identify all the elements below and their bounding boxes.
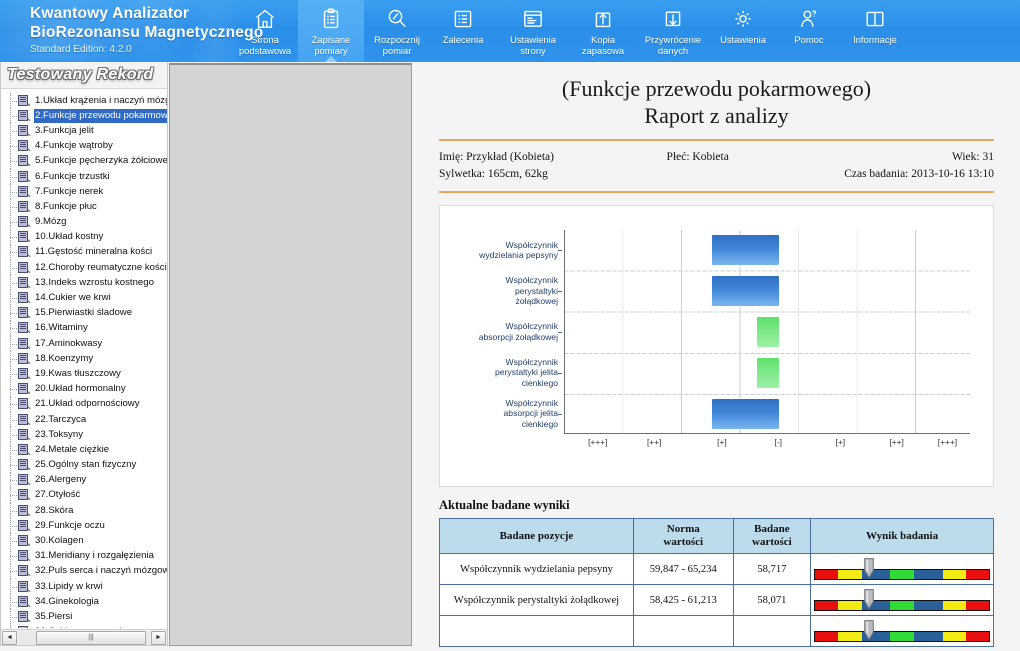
tree-elbow-connector [4, 290, 18, 305]
cell-item-name: Współczynnik perystaltyki żołądkowej [440, 585, 634, 616]
sidebar-item-34[interactable]: 34.Ginekologia [4, 594, 167, 609]
sidebar-item-11[interactable]: 11.Gęstość mineralna kości [4, 245, 167, 260]
cell-measured-value: 58,717 [733, 554, 811, 585]
scroll-right-button[interactable]: ► [151, 631, 166, 645]
brand-line-2: BioRezonansu Magnetycznego [30, 23, 263, 42]
toolbar-label: Zapisane pomiary [312, 35, 351, 56]
gauge-segment-5 [914, 632, 943, 641]
document-icon [18, 307, 31, 319]
gauge-segment-7 [966, 601, 989, 610]
sidebar-item-label: 6.Funkcje trzustki [34, 170, 112, 184]
tree-elbow-connector [4, 594, 18, 609]
chart-category-label-4: Współczynnik perystaltyki jelita cienkie… [440, 357, 558, 389]
report-title-line-1: (Funkcje przewodu pokarmowego) [439, 75, 994, 102]
column-header-value: Badane wartości [733, 519, 811, 554]
tree-panel-title: Testowany Rekord [1, 62, 167, 89]
document-icon [18, 565, 31, 577]
results-heading: Aktualne badane wyniki [439, 498, 994, 513]
scroll-left-button[interactable]: ◄ [2, 631, 17, 645]
table-header-row: Badane pozycje Norma wartości Badane war… [440, 519, 994, 554]
document-icon [18, 414, 31, 426]
chart-bar-5 [712, 399, 780, 429]
document-icon [18, 322, 31, 334]
gauge-segments [814, 569, 990, 580]
brand-edition: Standard Edition: 4.2.0 [30, 43, 263, 57]
scrollbar-track[interactable]: ||| [18, 631, 150, 645]
magnifier-icon [385, 6, 409, 32]
document-icon [18, 140, 31, 152]
document-icon [18, 459, 31, 471]
document-icon [18, 550, 31, 562]
cell-item-name [440, 616, 634, 647]
tree-elbow-connector [4, 215, 18, 230]
tree-elbow-connector [4, 154, 18, 169]
tree-elbow-connector [4, 199, 18, 214]
chart-plot-area [564, 230, 970, 434]
chart-bar-1 [712, 235, 780, 265]
sidebar-item-label: 26.Alergeny [34, 473, 88, 487]
sidebar-item-13[interactable]: 13.Indeks wzrostu kostnego [4, 275, 167, 290]
chart-category-label-2: Współczynnik perystaltyki żołądkowej [440, 275, 558, 307]
document-icon [18, 474, 31, 486]
gauge-segment-1 [815, 601, 838, 610]
meta-name: Imię: Przykład (Kobieta) [439, 149, 667, 166]
tree-elbow-connector [4, 609, 18, 624]
meta-age: Wiek: 31 [811, 149, 994, 166]
document-icon [18, 277, 31, 289]
sidebar-item-15[interactable]: 15.Pierwiastki śladowe [4, 306, 167, 321]
meta-figure: Sylwetka: 165cm, 62kg [439, 166, 667, 183]
middle-blank-panel [169, 63, 412, 646]
results-table: Badane pozycje Norma wartości Badane war… [439, 518, 994, 647]
sidebar-item-7[interactable]: 7.Funkcje nerek [4, 184, 167, 199]
tree-elbow-connector [4, 473, 18, 488]
document-icon [18, 246, 31, 258]
document-icon [18, 520, 31, 532]
sidebar-item-1[interactable]: 1.Układ krążenia i naczyń mózgowych [4, 93, 167, 108]
sidebar-item-label: 35.Piersi [34, 610, 74, 624]
tree-elbow-connector [4, 260, 18, 275]
tree-elbow-connector [4, 503, 18, 518]
gauge-segment-4 [890, 632, 913, 641]
sidebar-item-label: 18.Koenzymy [34, 352, 95, 366]
tree-elbow-connector [4, 625, 18, 628]
gauge-segment-2 [838, 601, 861, 610]
document-icon [18, 125, 31, 137]
cell-result-gauge [811, 554, 994, 585]
toolbar-button-strona-podstawowa[interactable]: Strona podstawowa [232, 0, 298, 62]
tree-elbow-connector [4, 306, 18, 321]
sidebar-item-label: 17.Aminokwasy [34, 337, 104, 351]
tree-elbow-connector [4, 427, 18, 442]
document-icon [18, 398, 31, 410]
toolbar-button-zapisane-pomiary[interactable]: Zapisane pomiary [298, 0, 364, 62]
sidebar-item-label: 13.Indeks wzrostu kostnego [34, 276, 156, 290]
document-icon [18, 626, 31, 628]
document-icon [18, 155, 31, 167]
document-icon [18, 611, 31, 623]
cell-norm-range [633, 616, 733, 647]
sidebar-item-12[interactable]: 12.Choroby reumatyczne kości [4, 260, 167, 275]
tree-elbow-connector [4, 366, 18, 381]
divider-top [439, 139, 994, 141]
tree-list: 1.Układ krążenia i naczyń mózgowych2.Fun… [1, 90, 167, 628]
gauge-segments [814, 600, 990, 611]
column-header-result: Wynik badania [811, 519, 994, 554]
tree-elbow-connector [4, 230, 18, 245]
sidebar-item-28[interactable]: 28.Skóra [4, 503, 167, 518]
sidebar-item-16[interactable]: 16.Witaminy [4, 321, 167, 336]
tree-elbow-connector [4, 351, 18, 366]
chart-category-label-1: Współczynnik wydzielania pepsyny [440, 240, 558, 261]
sidebar-item-label: 30.Kolagen [34, 534, 86, 548]
chart-x-tick-4: [-] [775, 437, 782, 447]
tree-elbow-connector [4, 336, 18, 351]
sidebar-item-label: 22.Tarczyca [34, 413, 88, 427]
result-gauge [814, 558, 990, 580]
gauge-segment-7 [966, 570, 989, 579]
clipboard-icon [319, 6, 343, 32]
gauge-segment-1 [815, 570, 838, 579]
chart-bar-3 [757, 317, 779, 347]
sidebar-item-20[interactable]: 20.Układ hormonalny [4, 382, 167, 397]
document-icon [18, 444, 31, 456]
document-icon [18, 581, 31, 593]
sidebar-item-2[interactable]: 2.Funkcje przewodu pokarmowego [4, 108, 167, 123]
scrollbar-thumb[interactable]: ||| [36, 631, 146, 645]
toolbar-label: Przywrócenie danych [645, 35, 701, 56]
gauge-needle-icon [863, 620, 874, 642]
sidebar-item-19[interactable]: 19.Kwas tłuszczowy [4, 366, 167, 381]
table-row[interactable] [440, 616, 994, 647]
cell-norm-range: 59,847 - 65,234 [633, 554, 733, 585]
sidebar-item-label: 21.Układ odpornościowy [34, 397, 142, 411]
gauge-needle-icon [863, 558, 874, 580]
sidebar-item-29[interactable]: 29.Funkcje oczu [4, 518, 167, 533]
document-icon [18, 186, 31, 198]
toolbar-button-zalecenia[interactable]: Zalecenia [430, 0, 496, 62]
tree-elbow-connector [4, 139, 18, 154]
tree-elbow-connector [4, 579, 18, 594]
tree-elbow-connector [4, 442, 18, 457]
cell-measured-value: 58,071 [733, 585, 811, 616]
tree-elbow-connector [4, 382, 18, 397]
sidebar-item-label: 28.Skóra [34, 504, 75, 518]
sidebar-item-label: 9.Mózg [34, 215, 68, 229]
chart-category-labels: Współczynnik wydzielania pepsynyWspółczy… [440, 230, 560, 434]
cell-item-name: Współczynnik wydzielania pepsyny [440, 554, 634, 585]
sidebar-item-label: 10.Układ kostny [34, 230, 105, 244]
sidebar-item-label: 1.Układ krążenia i naczyń mózgowych [34, 94, 167, 108]
sidebar-item-label: 32.Puls serca i naczyń mózgowych [34, 564, 167, 578]
tree-scroll-area[interactable]: 1.Układ krążenia i naczyń mózgowych2.Fun… [1, 90, 167, 628]
list-icon [451, 6, 475, 32]
document-icon [18, 110, 31, 122]
tree-elbow-connector [4, 518, 18, 533]
gauge-needle-icon [863, 589, 874, 611]
sidebar-item-27[interactable]: 27.Otyłość [4, 488, 167, 503]
document-icon [18, 383, 31, 395]
tree-elbow-connector [4, 184, 18, 199]
sidebar-item-label: 23.Toksyny [34, 428, 85, 442]
gauge-segment-1 [815, 632, 838, 641]
top-toolbar: Kwantowy Analizator BioRezonansu Magnety… [0, 0, 1020, 62]
sidebar-item-18[interactable]: 18.Koenzymy [4, 351, 167, 366]
toolbar-button-informacje[interactable]: Informacje [842, 0, 908, 62]
result-gauge [814, 589, 990, 611]
sidebar-item-4[interactable]: 4.Funkcje wątroby [4, 139, 167, 154]
sidebar-item-label: 8.Funkcje płuc [34, 200, 99, 214]
tree-elbow-connector [4, 533, 18, 548]
chart-x-tick-7: [+++] [938, 437, 957, 447]
tree-elbow-connector [4, 412, 18, 427]
cell-result-gauge [811, 585, 994, 616]
brand-line-1: Kwantowy Analizator [30, 4, 263, 23]
toolbar-label: Ustawienia strony [510, 35, 556, 56]
patient-meta: Imię: Przykład (Kobieta) Płeć: Kobieta W… [439, 149, 994, 183]
report-title-line-2: Raport z analizy [439, 102, 994, 129]
toolbar-label: Rozpocznij pomiar [374, 35, 420, 56]
sidebar-item-17[interactable]: 17.Aminokwasy [4, 336, 167, 351]
chart-x-tick-5: [+] [836, 437, 846, 447]
tree-elbow-connector [4, 93, 18, 108]
divider-bottom [439, 191, 994, 193]
sidebar-item-label: 16.Witaminy [34, 321, 90, 335]
application-window: Kwantowy Analizator BioRezonansu Magnety… [0, 0, 1020, 651]
analysis-chart: Współczynnik wydzielania pepsynyWspółczy… [439, 205, 994, 487]
toolbar-label: Pomoc [794, 35, 823, 46]
gear-icon [731, 6, 755, 32]
sidebar-item-24[interactable]: 24.Metale ciężkie [4, 442, 167, 457]
chart-bar-2 [712, 276, 780, 306]
document-icon [18, 262, 31, 274]
gauge-segment-6 [943, 632, 966, 641]
toolbar-label: Informacje [853, 35, 897, 46]
sidebar-item-22[interactable]: 22.Tarczyca [4, 412, 167, 427]
toolbar-button-ustawienia[interactable]: Ustawienia [710, 0, 776, 62]
result-gauge [814, 620, 990, 642]
sidebar-item-label: 20.Układ hormonalny [34, 382, 128, 396]
document-icon [18, 95, 31, 107]
sidebar-item-label: 33.Lipidy w krwi [34, 580, 105, 594]
tree-elbow-connector [4, 458, 18, 473]
toolbar-label: Ustawienia [720, 35, 766, 46]
sidebar-item-26[interactable]: 26.Alergeny [4, 473, 167, 488]
document-icon [18, 429, 31, 441]
sidebar-item-label: 2.Funkcje przewodu pokarmowego [34, 109, 167, 123]
sidebar-item-label: 4.Funkcje wątroby [34, 139, 115, 153]
tree-panel-title-text: Testowany Rekord [7, 66, 153, 84]
record-tree-panel: Testowany Rekord 1.Układ krążenia i nacz… [0, 62, 168, 646]
tree-elbow-connector [4, 169, 18, 184]
gauge-segment-5 [914, 570, 943, 579]
gauge-segment-7 [966, 632, 989, 641]
tree-elbow-connector [4, 245, 18, 260]
sidebar-item-21[interactable]: 21.Układ odpornościowy [4, 397, 167, 412]
sidebar-item-33[interactable]: 33.Lipidy w krwi [4, 579, 167, 594]
toolbar-label: Strona podstawowa [239, 35, 291, 56]
gauge-segment-4 [890, 570, 913, 579]
document-icon [18, 505, 31, 517]
report-panel: (Funkcje przewodu pokarmowego) Raport z … [413, 63, 1020, 651]
cell-measured-value [733, 616, 811, 647]
sidebar-item-label: 34.Ginekologia [34, 595, 101, 609]
sidebar-item-3[interactable]: 3.Funkcja jelit [4, 123, 167, 138]
tree-elbow-connector [4, 397, 18, 412]
toolbar-button-przywrocenie-danych[interactable]: Przywrócenie danych [636, 0, 710, 62]
main-content: Testowany Rekord 1.Układ krążenia i nacz… [0, 62, 1020, 651]
gauge-segment-2 [838, 632, 861, 641]
toolbar-button-rozpocznij-pomiar[interactable]: Rozpocznij pomiar [364, 0, 430, 62]
sidebar-item-30[interactable]: 30.Kolagen [4, 533, 167, 548]
document-icon [18, 201, 31, 213]
tree-horizontal-scrollbar[interactable]: ◄ ||| ► [1, 629, 167, 645]
gauge-segment-6 [943, 570, 966, 579]
toolbar-button-kopia-zapasowa[interactable]: Kopia zapasowa [570, 0, 636, 62]
chart-category-label-5: Współczynnik absorpcji jelita cienkiego [440, 398, 558, 430]
download-icon [661, 6, 685, 32]
upload-icon [591, 6, 615, 32]
chart-x-tick-6: [++] [889, 437, 903, 447]
meta-exam-time: Czas badania: 2013-10-16 13:10 [811, 166, 994, 183]
results-table-body: Współczynnik wydzielania pepsyny59,847 -… [440, 554, 994, 647]
sidebar-item-label: 29.Funkcje oczu [34, 519, 107, 533]
sidebar-item-10[interactable]: 10.Układ kostny [4, 230, 167, 245]
toolbar-button-pomoc[interactable]: Pomoc [776, 0, 842, 62]
meta-gender: Płeć: Kobieta [667, 149, 811, 166]
toolbar-button-ustawienia-strony[interactable]: Ustawienia strony [496, 0, 570, 62]
toolbar-buttons: Strona podstawowa Zapisane pomiary [232, 0, 908, 62]
document-icon [18, 489, 31, 501]
cell-result-gauge [811, 616, 994, 647]
toolbar-label: Zalecenia [443, 35, 484, 46]
tree-elbow-connector [4, 564, 18, 579]
table-row[interactable]: Współczynnik wydzielania pepsyny59,847 -… [440, 554, 994, 585]
gauge-segments [814, 631, 990, 642]
document-icon [18, 368, 31, 380]
sidebar-item-35[interactable]: 35.Piersi [4, 609, 167, 624]
help-person-icon [797, 6, 821, 32]
chart-x-tick-1: [+++] [588, 437, 607, 447]
document-icon [18, 535, 31, 547]
document-icon [18, 216, 31, 228]
sidebar-item-32[interactable]: 32.Puls serca i naczyń mózgowych [4, 564, 167, 579]
page-settings-icon [521, 6, 545, 32]
toolbar-label: Kopia zapasowa [582, 35, 624, 56]
gauge-segment-4 [890, 601, 913, 610]
chart-x-tick-3: [+] [717, 437, 727, 447]
sidebar-item-36[interactable]: 36.Cykl menstruacyjny [4, 625, 167, 628]
document-icon [18, 292, 31, 304]
chart-bar-4 [757, 358, 779, 388]
home-icon [253, 6, 277, 32]
sidebar-item-label: 14.Cukier we krwi [34, 291, 113, 305]
sidebar-item-9[interactable]: 9.Mózg [4, 215, 167, 230]
sidebar-item-6[interactable]: 6.Funkcje trzustki [4, 169, 167, 184]
chart-x-tick-2: [++] [647, 437, 661, 447]
sidebar-item-label: 19.Kwas tłuszczowy [34, 367, 123, 381]
chart-x-axis: [+++][++][+][-][+][++][+++] [564, 434, 970, 454]
sidebar-item-8[interactable]: 8.Funkcje płuc [4, 199, 167, 214]
sidebar-item-label: 3.Funkcja jelit [34, 124, 96, 138]
sidebar-item-label: 12.Choroby reumatyczne kości [34, 261, 167, 275]
sidebar-item-label: 31.Meridiany i rozgałęzienia [34, 549, 156, 563]
book-icon [863, 6, 887, 32]
tree-elbow-connector [4, 275, 18, 290]
document-icon [18, 596, 31, 608]
gauge-segment-2 [838, 570, 861, 579]
sidebar-item-label: 15.Pierwiastki śladowe [34, 306, 134, 320]
tree-elbow-connector [4, 108, 18, 123]
app-brand: Kwantowy Analizator BioRezonansu Magnety… [30, 4, 263, 57]
gauge-segment-6 [943, 601, 966, 610]
sidebar-item-23[interactable]: 23.Toksyny [4, 427, 167, 442]
sidebar-item-label: 36.Cykl menstruacyjny [34, 625, 134, 628]
sidebar-item-25[interactable]: 25.Ogólny stan fizyczny [4, 458, 167, 473]
chart-category-label-3: Współczynnik absorpcji żołądkowej [440, 321, 558, 342]
tree-elbow-connector [4, 488, 18, 503]
sidebar-item-31[interactable]: 31.Meridiany i rozgałęzienia [4, 549, 167, 564]
sidebar-item-5[interactable]: 5.Funkcje pęcherzyka żółciowego [4, 154, 167, 169]
document-icon [18, 338, 31, 350]
sidebar-item-label: 25.Ogólny stan fizyczny [34, 458, 138, 472]
sidebar-item-label: 27.Otyłość [34, 488, 82, 502]
document-icon [18, 231, 31, 243]
sidebar-item-14[interactable]: 14.Cukier we krwi [4, 290, 167, 305]
sidebar-item-label: 11.Gęstość mineralna kości [34, 245, 154, 259]
sidebar-item-label: 7.Funkcje nerek [34, 185, 105, 199]
tree-elbow-connector [4, 321, 18, 336]
tree-elbow-connector [4, 549, 18, 564]
gauge-segment-5 [914, 601, 943, 610]
cell-norm-range: 58,425 - 61,213 [633, 585, 733, 616]
column-header-item: Badane pozycje [440, 519, 634, 554]
sidebar-item-label: 5.Funkcje pęcherzyka żółciowego [34, 154, 167, 168]
column-header-norm: Norma wartości [633, 519, 733, 554]
table-row[interactable]: Współczynnik perystaltyki żołądkowej58,4… [440, 585, 994, 616]
document-icon [18, 353, 31, 365]
sidebar-item-label: 24.Metale ciężkie [34, 443, 111, 457]
document-icon [18, 171, 31, 183]
tree-elbow-connector [4, 123, 18, 138]
